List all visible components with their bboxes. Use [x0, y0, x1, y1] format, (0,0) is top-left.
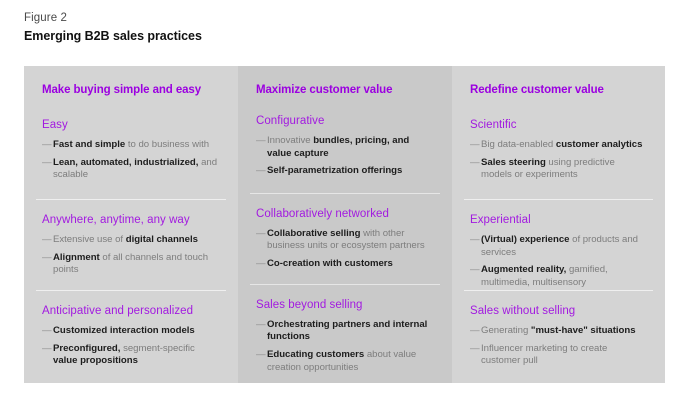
column-header: Maximize customer value [238, 66, 452, 96]
bullet-item: Sales steering using predictive models o… [470, 157, 645, 182]
bullet-item: Alignment of all channels and touch poin… [42, 252, 218, 277]
bullet-emphasis: (Virtual) experience [481, 234, 569, 245]
practice-cell: ConfigurativeInnovative bundles, pricing… [238, 96, 452, 193]
bullet-emphasis: customer analytics [556, 139, 643, 150]
bullet-item: Extensive use of digital channels [42, 234, 218, 247]
figure-title: Emerging B2B sales practices [24, 28, 644, 45]
cell-title: Sales beyond selling [256, 298, 432, 313]
bullet-emphasis: Educating customers [267, 349, 364, 360]
bullet-list: Big data-enabled customer analyticsSales… [470, 139, 645, 182]
practice-cell: Experiential(Virtual) experience of prod… [452, 199, 665, 290]
figure-container: Figure 2 Emerging B2B sales practices Ma… [0, 0, 686, 401]
column-header: Make buying simple and easy [24, 66, 238, 100]
cell-title: Configurative [256, 114, 432, 129]
bullet-item: Self-parametrization offerings [256, 165, 432, 178]
cell-title: Experiential [470, 213, 645, 228]
cell-title: Sales without selling [470, 304, 645, 319]
bullet-text: Big data-enabled [481, 139, 556, 150]
bullet-item: Co-creation with customers [256, 258, 432, 271]
practice-cell: Sales without sellingGenerating "must-ha… [452, 290, 665, 383]
bullet-list: Fast and simple to do business withLean,… [42, 139, 218, 182]
bullet-item: Preconfigured, segment-specific value pr… [42, 343, 218, 368]
cell-title: Anticipative and personalized [42, 304, 218, 319]
bullet-emphasis: Orchestrating partners and internal func… [267, 319, 427, 343]
bullet-item: Orchestrating partners and internal func… [256, 319, 432, 344]
practice-cell: EasyFast and simple to do business withL… [24, 100, 238, 199]
bullet-item: Influencer marketing to create customer … [470, 343, 645, 368]
practice-cell: ScientificBig data-enabled customer anal… [452, 100, 665, 199]
bullet-emphasis: Preconfigured, [53, 343, 120, 354]
bullet-item: Customized interaction models [42, 325, 218, 338]
bullet-emphasis: Fast and simple [53, 139, 125, 150]
bullet-emphasis: Augmented reality, [481, 264, 566, 275]
bullet-list: Collaborative selling with other busines… [256, 228, 432, 271]
bullet-emphasis: Collaborative selling [267, 228, 360, 239]
practice-cell: Sales beyond sellingOrchestrating partne… [238, 284, 452, 386]
bullet-item: Collaborative selling with other busines… [256, 228, 432, 253]
bullet-emphasis: "must-have" situations [531, 325, 636, 336]
bullet-item: Lean, automated, industrialized, and sca… [42, 157, 218, 182]
cell-title: Anywhere, anytime, any way [42, 213, 218, 228]
bullet-item: Innovative bundles, pricing, and value c… [256, 135, 432, 160]
bullet-item: (Virtual) experience of products and ser… [470, 234, 645, 259]
practice-column: Make buying simple and easyEasyFast and … [24, 66, 238, 383]
cell-title: Scientific [470, 118, 645, 133]
bullet-emphasis: Alignment [53, 252, 100, 263]
bullet-item: Augmented reality, gamified, multimedia,… [470, 264, 645, 289]
bullet-emphasis: value propositions [53, 355, 138, 366]
figure-label: Figure 2 [24, 10, 644, 26]
practice-cell: Collaboratively networkedCollaborative s… [238, 193, 452, 284]
bullet-text: Generating [481, 325, 531, 336]
bullet-item: Fast and simple to do business with [42, 139, 218, 152]
bullet-text: Extensive use of [53, 234, 126, 245]
practice-column: Maximize customer valueConfigurativeInno… [238, 66, 452, 383]
bullet-list: Generating "must-have" situationsInfluen… [470, 325, 645, 368]
bullet-item: Big data-enabled customer analytics [470, 139, 645, 152]
practice-cell: Anywhere, anytime, any wayExtensive use … [24, 199, 238, 290]
bullet-emphasis: Customized interaction models [53, 325, 195, 336]
bullet-emphasis: Co-creation with customers [267, 258, 393, 269]
bullet-emphasis: Lean, automated, industrialized, [53, 157, 198, 168]
bullet-emphasis: Sales steering [481, 157, 546, 168]
bullet-text: to do business with [125, 139, 209, 150]
bullet-list: Extensive use of digital channelsAlignme… [42, 234, 218, 277]
bullet-item: Educating customers about value creation… [256, 349, 432, 374]
bullet-item: Generating "must-have" situations [470, 325, 645, 338]
bullet-emphasis: Self-parametrization offerings [267, 165, 402, 176]
bullet-text: Innovative [267, 135, 313, 146]
practice-cell: Anticipative and personalizedCustomized … [24, 290, 238, 383]
bullet-list: Customized interaction modelsPreconfigur… [42, 325, 218, 368]
bullet-list: Innovative bundles, pricing, and value c… [256, 135, 432, 178]
bullet-emphasis: digital channels [126, 234, 198, 245]
practice-column: Redefine customer valueScientificBig dat… [452, 66, 665, 383]
bullet-text: segment-specific [120, 343, 194, 354]
bullet-list: Orchestrating partners and internal func… [256, 319, 432, 374]
bullet-text: Influencer marketing to create customer … [481, 343, 607, 367]
column-header: Redefine customer value [452, 66, 665, 100]
figure-heading: Figure 2 Emerging B2B sales practices [24, 10, 644, 45]
cell-title: Easy [42, 118, 218, 133]
practices-panel: Make buying simple and easyEasyFast and … [24, 66, 665, 383]
cell-title: Collaboratively networked [256, 207, 432, 222]
bullet-list: (Virtual) experience of products and ser… [470, 234, 645, 289]
